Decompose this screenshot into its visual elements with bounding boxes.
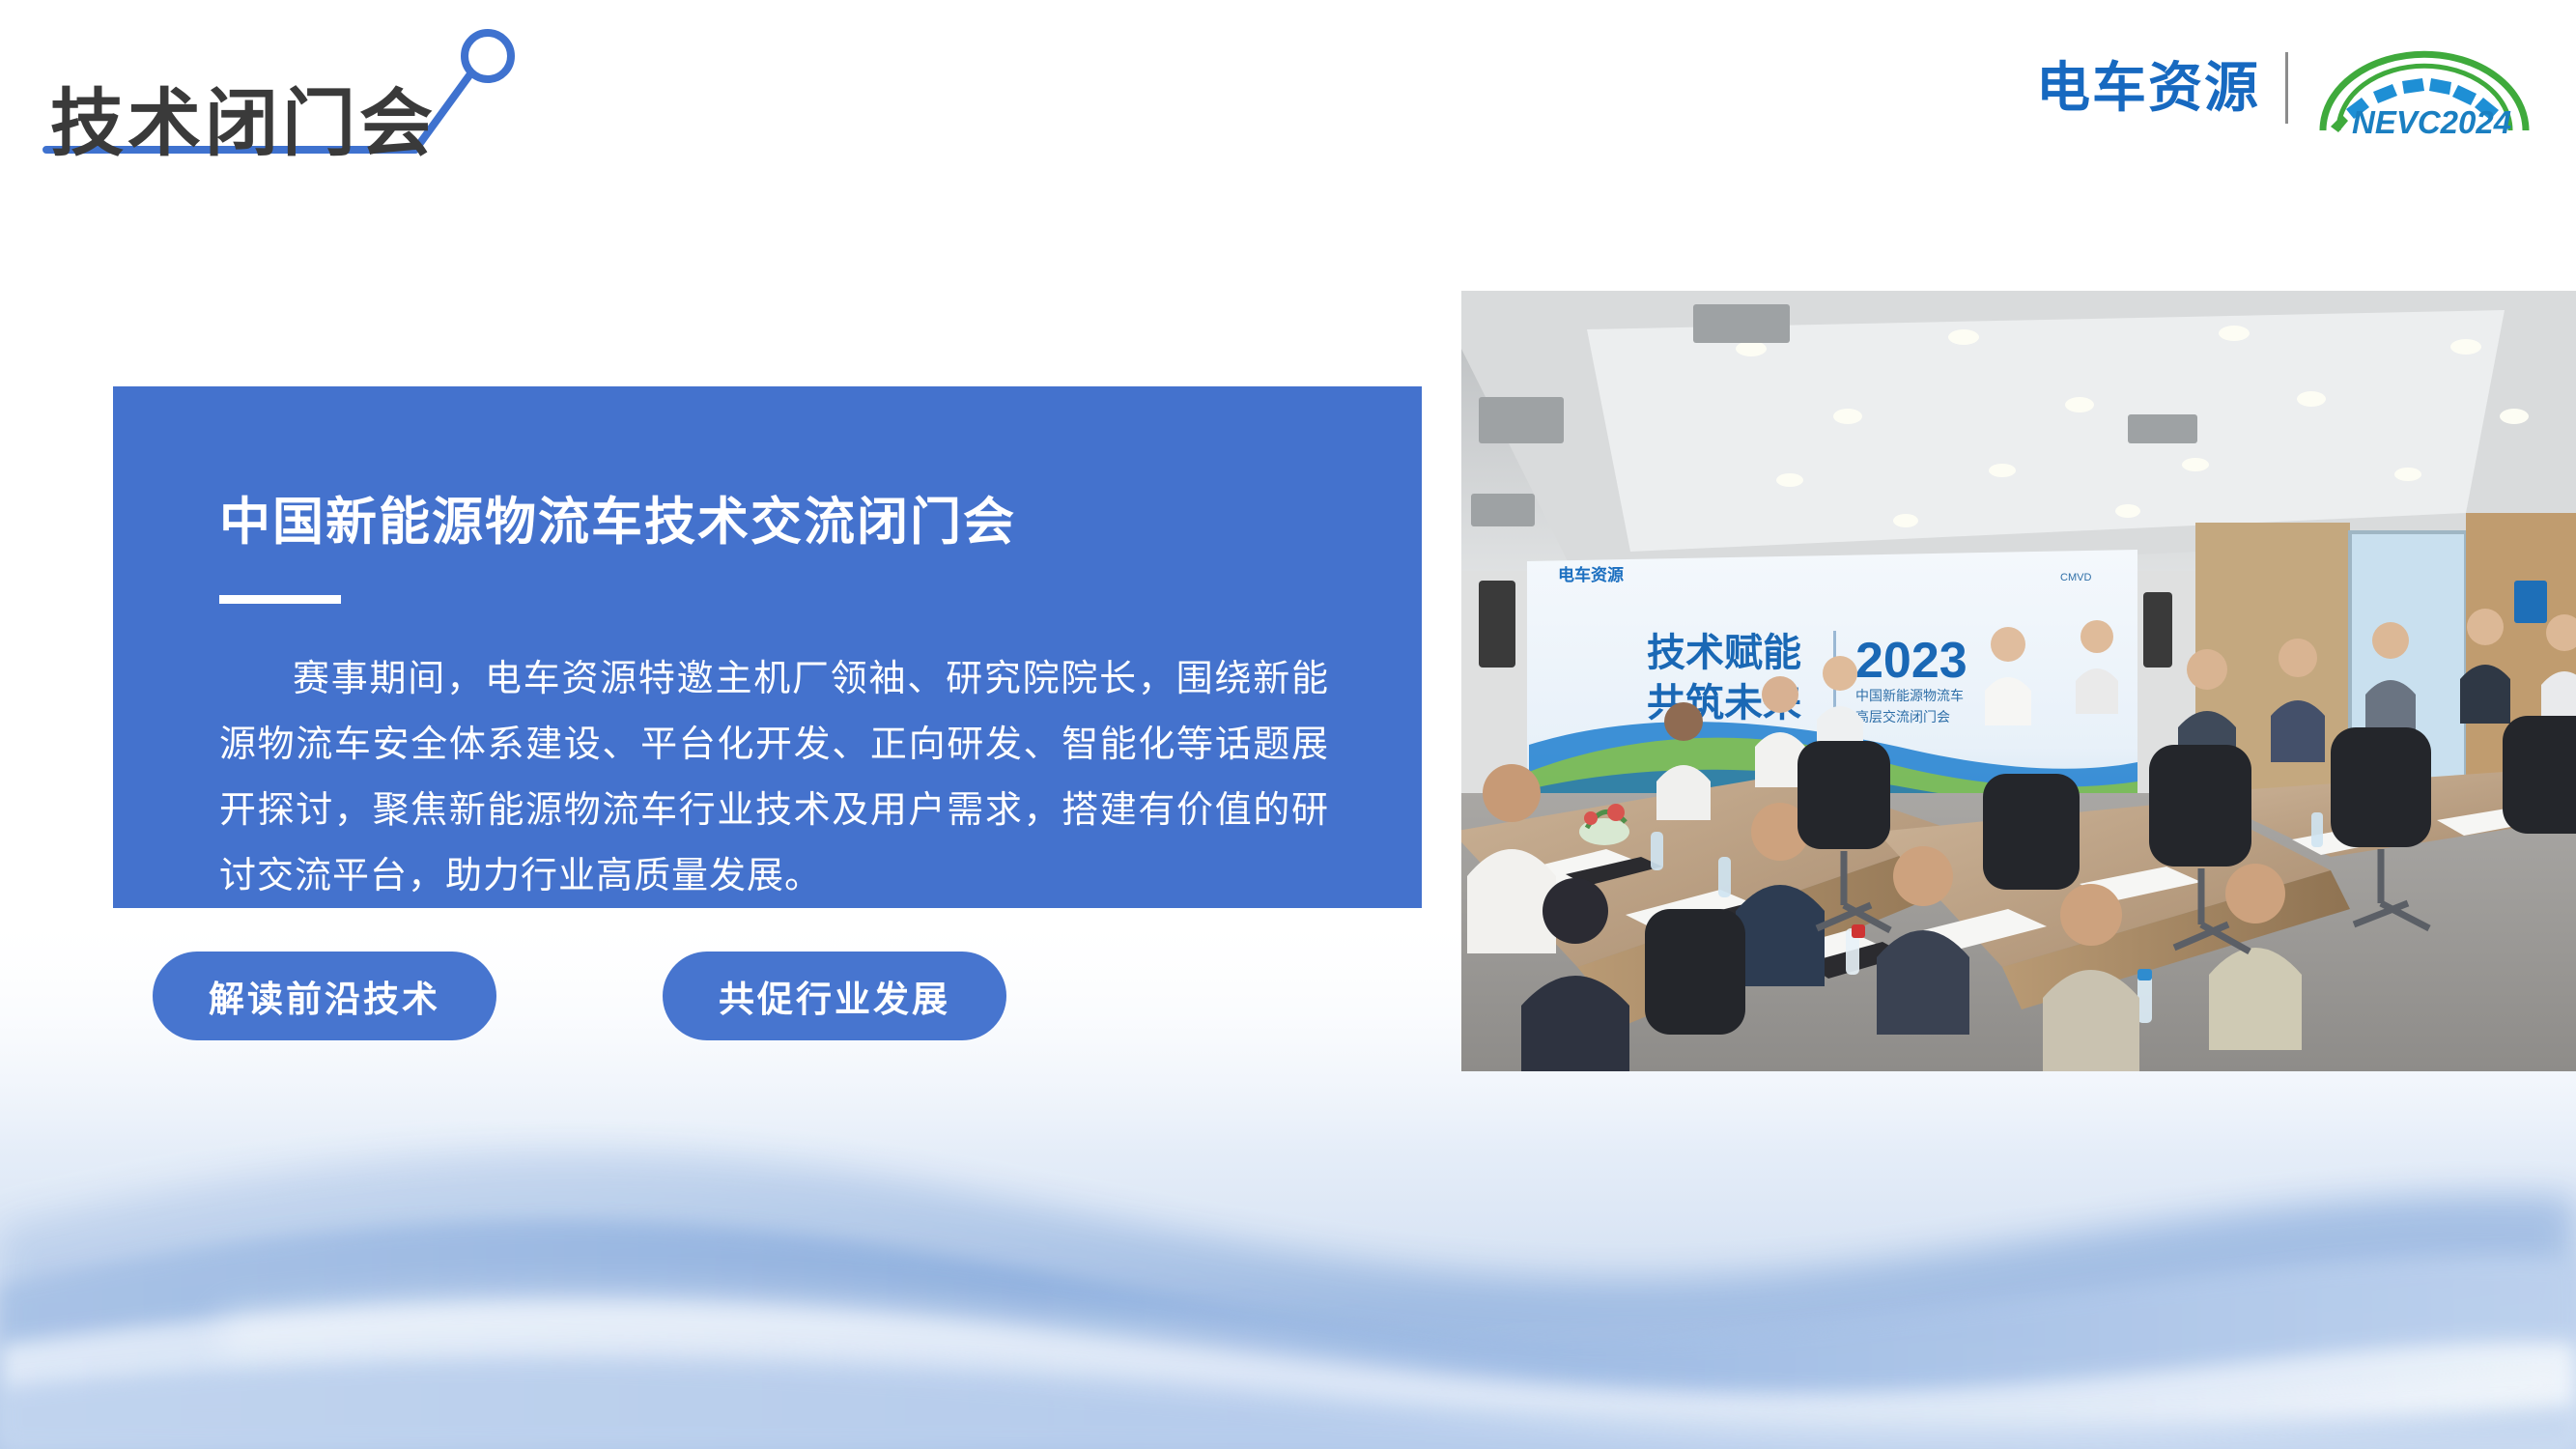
card-heading-rule	[219, 595, 341, 604]
info-card: 中国新能源物流车技术交流闭门会 赛事期间，电车资源特邀主机厂领袖、研究院院长，围…	[113, 386, 1422, 908]
card-body-text: 赛事期间，电车资源特邀主机厂领袖、研究院院长，围绕新能源物流车安全体系建设、平台…	[219, 646, 1329, 909]
highlight-button-decode-frontier-tech[interactable]: 解读前沿技术	[153, 952, 496, 1040]
highlight-button-row: 解读前沿技术 共促行业发展	[153, 952, 1006, 1040]
highlight-button-promote-industry-growth[interactable]: 共促行业发展	[663, 952, 1006, 1040]
brand-divider	[2285, 52, 2288, 124]
page-header: 技术闭门会 电车资源 NEVC2024	[0, 0, 2576, 184]
svg-text:NEVC2024: NEVC2024	[2352, 104, 2511, 138]
conference-photo: 电车资源 CMVD 技术赋能 共筑未来 2023 中国新能源物流车 高层交流闭门…	[1461, 291, 2576, 1071]
nevc-2024-logo-icon: NEVC2024	[2313, 38, 2535, 138]
brand-lockup: 电车资源 NEVC2024	[2036, 35, 2535, 141]
slide-root: 技术闭门会 电车资源 NEVC2024	[0, 0, 2576, 1449]
page-title: 技术闭门会	[50, 78, 437, 171]
card-heading: 中国新能源物流车技术交流闭门会	[219, 493, 1329, 553]
brand-name: 电车资源	[2036, 61, 2260, 115]
